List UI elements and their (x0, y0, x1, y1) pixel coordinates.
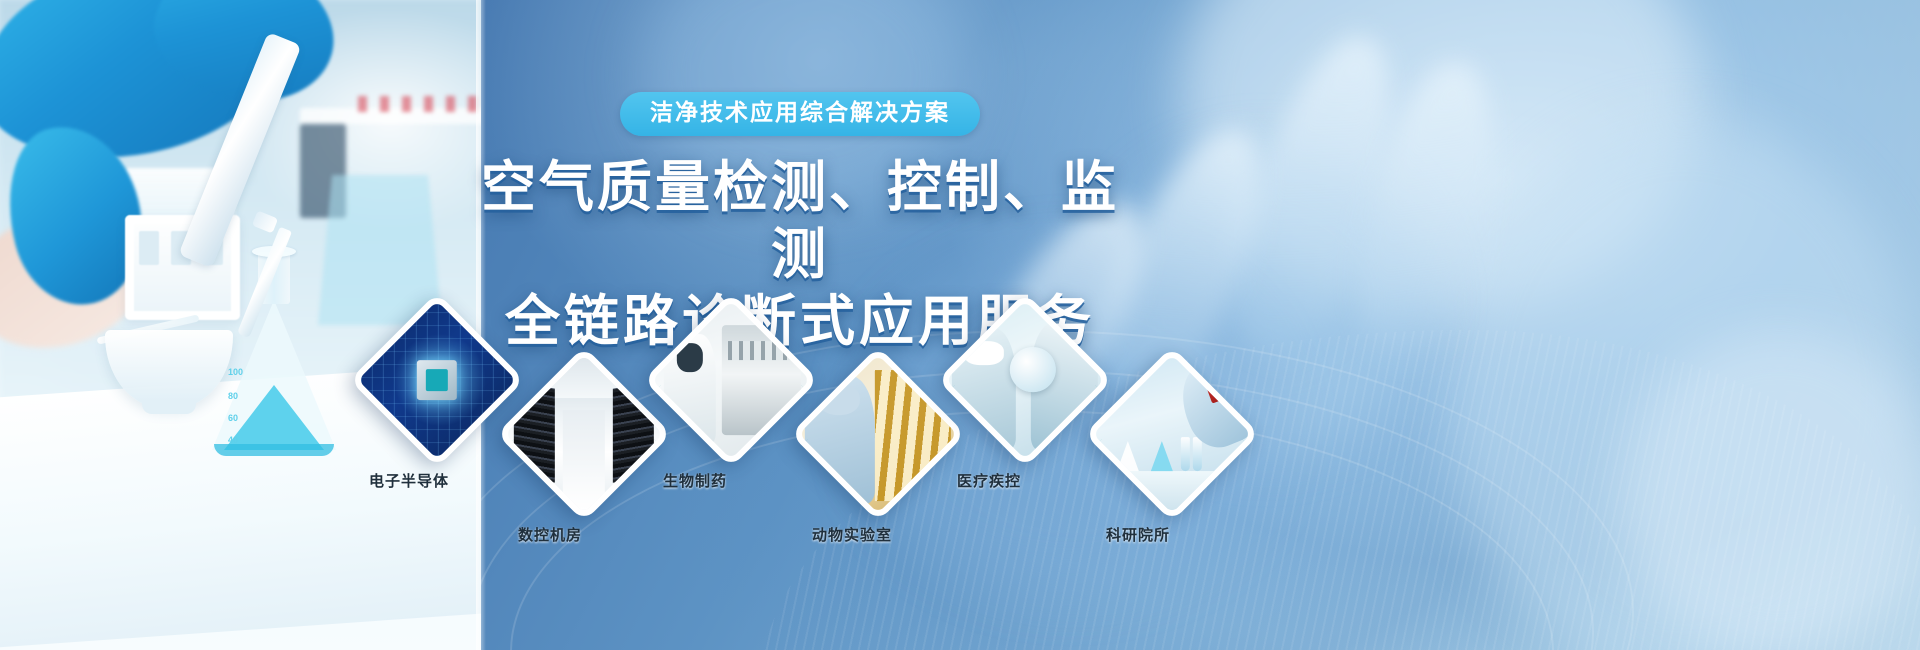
industry-card-biopharma[interactable]: 生物制药 (669, 318, 793, 442)
card-diamond (1084, 346, 1259, 521)
industry-card-datacenter[interactable]: 数控机房 (522, 372, 646, 496)
server-rack-icon (508, 358, 660, 510)
research-lab-icon (1096, 358, 1248, 510)
animal-lab-icon (802, 358, 954, 510)
banner-stage: 100 80 60 40 洁净技术应用综合解决方案 空气质量检测、控制、监测 全… (0, 0, 1920, 650)
card-diamond (937, 292, 1112, 467)
card-label: 生物制药 (663, 470, 727, 491)
industry-card-row: 电子半导体 数控机房 生物制药 动物实验 (0, 0, 1920, 650)
card-label: 数控机房 (518, 524, 582, 545)
card-diamond (496, 346, 671, 521)
card-diamond (790, 346, 965, 521)
industry-card-electronics[interactable]: 电子半导体 (375, 318, 499, 442)
pharma-cleanroom-icon (655, 304, 807, 456)
industry-card-research[interactable]: 科研院所 (1110, 372, 1234, 496)
industry-card-medical-cdc[interactable]: 医疗疾控 (963, 318, 1087, 442)
industry-card-animal-lab[interactable]: 动物实验室 (816, 372, 940, 496)
card-diamond (349, 292, 524, 467)
card-diamond (643, 292, 818, 467)
microchip-icon (361, 304, 513, 456)
card-label: 动物实验室 (812, 524, 892, 545)
card-label: 科研院所 (1106, 524, 1170, 545)
card-label: 电子半导体 (369, 470, 449, 491)
medical-cdc-icon (949, 304, 1101, 456)
card-label: 医疗疾控 (957, 470, 1021, 491)
